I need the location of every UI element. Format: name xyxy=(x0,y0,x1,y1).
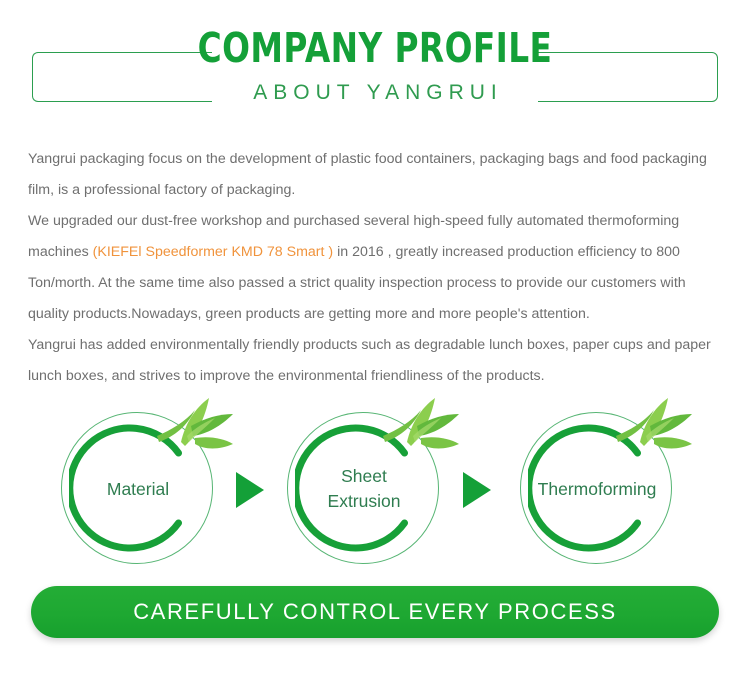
page-header: COMPANY PROFILE ABOUT YANGRUI xyxy=(0,22,750,132)
paragraph-3: Yangrui has added environmentally friend… xyxy=(28,330,728,392)
page-subtitle: ABOUT YANGRUI xyxy=(0,80,750,106)
paragraph-2: We upgraded our dust-free workshop and p… xyxy=(28,206,728,330)
process-step-material: Material xyxy=(55,406,221,572)
process-arrow-icon xyxy=(236,472,264,508)
process-arrow-icon xyxy=(463,472,491,508)
process-step-label: Material xyxy=(41,406,235,572)
tagline-text: CAREFULLY CONTROL EVERY PROCESS xyxy=(133,599,617,625)
tagline-banner: CAREFULLY CONTROL EVERY PROCESS xyxy=(31,586,719,638)
process-step-label: Sheet Extrusion xyxy=(267,406,461,572)
page-title: COMPANY PROFILE xyxy=(75,22,675,74)
process-step-sheet-extrusion: Sheet Extrusion xyxy=(281,406,447,572)
process-step-label: Thermoforming xyxy=(500,406,694,572)
process-diagram: Material Sheet Extrusion xyxy=(0,396,750,568)
machine-model-highlight: (KIEFEl Speedformer KMD 78 Smart ) xyxy=(93,244,333,260)
paragraph-1: Yangrui packaging focus on the developme… xyxy=(28,144,728,206)
header-title-block: COMPANY PROFILE ABOUT YANGRUI xyxy=(0,22,750,106)
process-step-thermoforming: Thermoforming xyxy=(514,406,680,572)
company-description: Yangrui packaging focus on the developme… xyxy=(28,144,728,392)
